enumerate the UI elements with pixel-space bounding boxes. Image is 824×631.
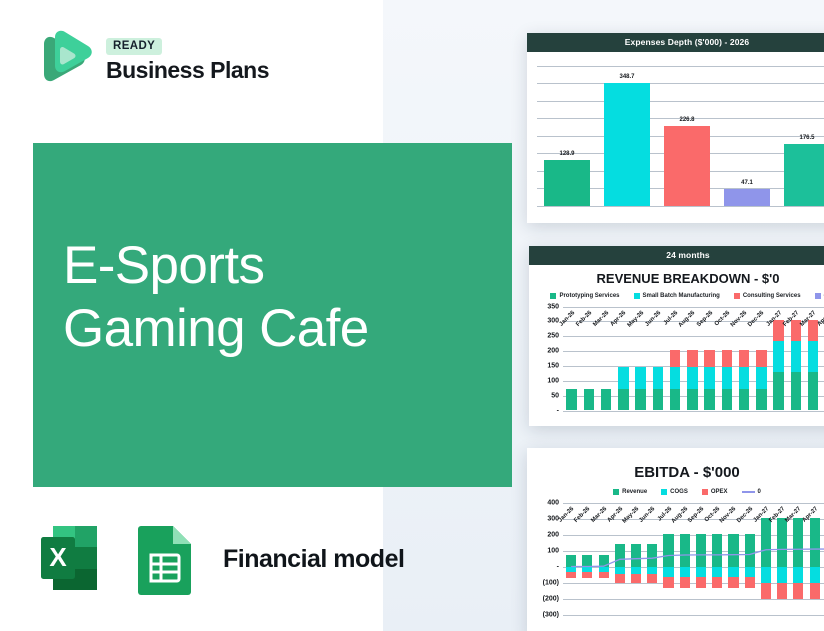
x-axis-label: May-26 xyxy=(626,310,645,329)
y-axis-tick: 50 xyxy=(551,392,563,399)
y-axis-tick: 250 xyxy=(547,333,563,340)
x-axis-label: Apr-26 xyxy=(610,310,628,328)
y-axis-tick: 100 xyxy=(547,377,563,384)
chart-bar xyxy=(724,189,771,205)
chart-bar-segment xyxy=(756,367,767,388)
page-title: E-Sports Gaming Cafe xyxy=(63,235,369,360)
legend-label: OPEX xyxy=(711,489,728,495)
chart-bar-segment xyxy=(601,389,612,411)
chart-data-label: 128.9 xyxy=(559,151,574,157)
legend-color-swatch xyxy=(815,293,821,299)
chart-bar xyxy=(664,126,711,205)
chart-title-ebitda: EBITDA - $'000 xyxy=(527,464,824,481)
chart-title-revenue-breakdown: REVENUE BREAKDOWN - $'0 xyxy=(529,271,824,286)
chart-bar-segment xyxy=(722,389,733,411)
y-axis-tick: 100 xyxy=(547,548,563,555)
chart-bar-segment xyxy=(687,367,698,388)
chart-bar xyxy=(784,144,824,206)
chart-bar-segment xyxy=(670,367,681,388)
legend-item: OPEX xyxy=(702,489,728,495)
gridline xyxy=(537,66,824,67)
chart-bar-segment xyxy=(687,350,698,368)
chart-header-revenue-breakdown: 24 months xyxy=(529,246,824,265)
chart-bar-segment xyxy=(808,372,819,410)
legend-color-swatch xyxy=(734,293,740,299)
slide-root: READY Business Plans E-Sports Gaming Caf… xyxy=(0,0,824,631)
play-button-logo-icon xyxy=(34,28,92,92)
gridline xyxy=(563,307,824,308)
chart-bar-segment xyxy=(618,367,629,388)
chart-bar-segment xyxy=(704,367,715,388)
chart-data-label: 348.7 xyxy=(619,74,634,80)
x-axis-label: Dec-26 xyxy=(747,310,765,328)
legend-color-swatch xyxy=(661,489,667,495)
legend-line-swatch xyxy=(742,491,755,493)
google-sheets-icon xyxy=(129,520,201,598)
chart-bar xyxy=(604,83,651,205)
gridline xyxy=(537,206,824,207)
legend-item: Prototyping Services xyxy=(550,293,619,299)
gridline xyxy=(537,101,824,102)
chart-card-revenue-breakdown[interactable]: 24 months REVENUE BREAKDOWN - $'0 Protot… xyxy=(529,246,824,426)
chart-bar-segment xyxy=(739,389,750,411)
chart-bar-segment xyxy=(739,350,750,368)
legend-label: Prototyping Services xyxy=(559,293,619,299)
chart-bar-segment xyxy=(791,372,802,410)
legend-item: - xyxy=(815,293,824,299)
y-axis-tick: - xyxy=(557,407,563,414)
brand-name: Business Plans xyxy=(106,58,269,82)
chart-card-ebitda[interactable]: EBITDA - $'000 RevenueCOGSOPEX0 40030020… xyxy=(527,448,824,631)
chart-bar-segment xyxy=(566,389,577,411)
chart-bar-segment xyxy=(722,367,733,388)
y-axis-tick: 350 xyxy=(547,303,563,310)
chart-legend-revenue-breakdown: Prototyping ServicesSmall Batch Manufact… xyxy=(529,293,824,299)
chart-legend-ebitda: RevenueCOGSOPEX0 xyxy=(527,489,824,495)
x-axis-label: Nov-26 xyxy=(730,310,748,328)
chart-plot-ebitda: 400300200100-(100)(200)(300)Jan-26Feb-26… xyxy=(563,503,824,615)
y-axis-tick: 400 xyxy=(547,500,563,507)
chart-bar-segment xyxy=(791,341,802,372)
chart-bar-segment xyxy=(618,389,629,411)
x-axis-label: Sep-26 xyxy=(696,310,714,328)
chart-bar-segment xyxy=(670,389,681,411)
chart-header-expenses-depth: Expenses Depth ($'000) - 2026 xyxy=(527,33,824,52)
chart-data-label: 47.1 xyxy=(741,180,753,186)
legend-item: 0 xyxy=(742,489,761,495)
chart-bar-segment xyxy=(704,389,715,411)
footer-label: Financial model xyxy=(223,545,404,574)
legend-item: Revenue xyxy=(613,489,647,495)
chart-data-label: 226.8 xyxy=(679,117,694,123)
chart-bar-segment xyxy=(635,367,646,388)
x-axis-label: Apr-27 xyxy=(817,310,824,328)
chart-bar-segment xyxy=(653,367,664,388)
chart-bar-segment xyxy=(773,372,784,410)
legend-label: COGS xyxy=(670,489,688,495)
legend-color-swatch xyxy=(550,293,556,299)
chart-bar-segment xyxy=(704,350,715,368)
y-axis-tick: 150 xyxy=(547,362,563,369)
y-axis-tick: 200 xyxy=(547,532,563,539)
y-axis-tick: 200 xyxy=(547,348,563,355)
chart-bar-segment xyxy=(808,341,819,372)
chart-bar-segment xyxy=(584,389,595,411)
chart-bar-segment xyxy=(653,389,664,411)
chart-bar-segment xyxy=(773,341,784,372)
legend-color-swatch xyxy=(634,293,640,299)
legend-label: Consulting Services xyxy=(743,293,801,299)
legend-item: Small Batch Manufacturing xyxy=(634,293,720,299)
hero-block: E-Sports Gaming Cafe xyxy=(33,143,512,487)
chart-bar xyxy=(544,160,591,205)
legend-item: Consulting Services xyxy=(734,293,801,299)
legend-label: Small Batch Manufacturing xyxy=(643,293,720,299)
chart-data-label: 176.5 xyxy=(799,135,814,141)
chart-line-series xyxy=(563,503,824,615)
chart-bar-segment xyxy=(670,350,681,368)
legend-label: Revenue xyxy=(622,489,647,495)
x-axis-label: Jun-26 xyxy=(644,310,662,328)
svg-text:X: X xyxy=(49,542,67,572)
x-axis-label: Feb-26 xyxy=(575,310,593,328)
gridline xyxy=(563,336,824,337)
chart-bar-segment xyxy=(756,389,767,411)
chart-bar-segment xyxy=(687,389,698,411)
y-axis-tick: (300) xyxy=(543,612,563,619)
legend-item: COGS xyxy=(661,489,688,495)
legend-color-swatch xyxy=(702,489,708,495)
x-axis-label: Mar-26 xyxy=(592,310,610,328)
chart-bar-segment xyxy=(739,367,750,388)
chart-bar-segment xyxy=(756,350,767,368)
chart-plot-expenses-depth: 128.9348.7226.847.1176.5 xyxy=(537,66,824,206)
x-axis-label: Oct-26 xyxy=(714,310,731,327)
chart-bar-segment xyxy=(722,350,733,368)
gridline xyxy=(537,83,824,84)
legend-label: 0 xyxy=(758,489,761,495)
gridline xyxy=(563,615,824,616)
chart-plot-revenue-breakdown: 35030025020015010050-Jan-26Feb-26Mar-26A… xyxy=(563,307,824,411)
chart-bar-segment xyxy=(635,389,646,411)
x-axis-label: Aug-26 xyxy=(678,310,697,329)
footer-row: X Financial model xyxy=(33,520,404,598)
ready-badge: READY xyxy=(106,38,162,56)
brand-text: READY Business Plans xyxy=(106,38,269,83)
legend-color-swatch xyxy=(613,489,619,495)
y-axis-tick: (200) xyxy=(543,596,563,603)
microsoft-excel-icon: X xyxy=(33,520,111,598)
chart-card-expenses-depth[interactable]: Expenses Depth ($'000) - 2026 128.9348.7… xyxy=(527,33,824,223)
gridline xyxy=(563,411,824,412)
brand-logo: READY Business Plans xyxy=(34,28,269,92)
y-axis-tick: (100) xyxy=(543,580,563,587)
